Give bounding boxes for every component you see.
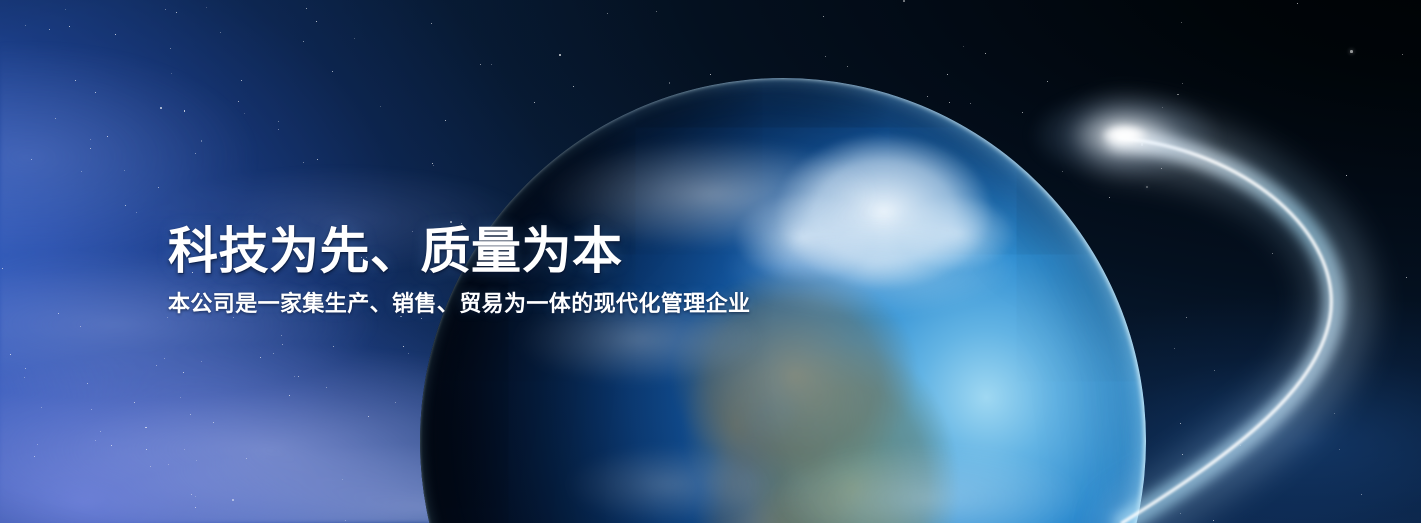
star [95, 440, 96, 441]
star [303, 162, 304, 163]
star [1161, 168, 1162, 169]
star [213, 422, 214, 423]
star [380, 106, 381, 107]
star [158, 187, 159, 188]
star [368, 416, 369, 417]
star [985, 53, 986, 54]
star [90, 139, 91, 140]
star [220, 32, 221, 33]
star [87, 383, 88, 384]
star [403, 346, 404, 347]
star [184, 110, 186, 112]
star [41, 407, 42, 408]
star [191, 494, 192, 495]
star [1180, 513, 1181, 514]
star [69, 26, 70, 27]
star [238, 101, 239, 102]
star [1361, 494, 1362, 495]
star [354, 38, 355, 39]
star [1339, 449, 1340, 450]
star [903, 0, 905, 2]
star [1213, 520, 1214, 521]
star [95, 92, 96, 93]
hero-subheadline: 本公司是一家集生产、销售、贸易为一体的现代化管理企业 [168, 291, 750, 317]
star [947, 74, 948, 75]
star [342, 479, 343, 480]
star [1406, 277, 1407, 278]
star [408, 353, 409, 354]
star [303, 41, 304, 42]
star [1182, 83, 1183, 84]
star [195, 496, 196, 497]
star [278, 121, 279, 122]
star [260, 357, 261, 358]
star [201, 361, 202, 362]
star [145, 427, 147, 429]
star [124, 170, 125, 171]
star [1272, 253, 1273, 254]
star [25, 25, 26, 26]
star [1297, 3, 1298, 4]
star [195, 153, 196, 154]
star [246, 458, 247, 459]
star [1240, 445, 1241, 446]
star [156, 365, 157, 366]
star [825, 56, 826, 57]
star [65, 9, 66, 10]
star [58, 313, 59, 314]
star [81, 171, 82, 172]
star [176, 12, 177, 13]
star [1181, 22, 1182, 23]
star [282, 344, 283, 345]
star [607, 13, 608, 14]
star [281, 335, 282, 336]
star [91, 409, 92, 410]
star [164, 358, 165, 359]
star [24, 377, 25, 378]
star [431, 23, 432, 24]
star [306, 8, 307, 9]
star [90, 148, 91, 149]
star [165, 9, 166, 10]
star [491, 64, 492, 65]
star [136, 212, 137, 213]
star [115, 34, 116, 35]
star [37, 444, 38, 445]
star [34, 456, 35, 457]
star [183, 372, 184, 373]
star [195, 507, 196, 508]
hero-banner: 科技为先、质量为本 本公司是一家集生产、销售、贸易为一体的现代化管理企业 [0, 0, 1421, 523]
star [241, 80, 242, 81]
star [150, 466, 151, 467]
star [326, 387, 327, 388]
star [1186, 317, 1187, 318]
star [201, 140, 203, 142]
star [289, 395, 290, 396]
hero-text-block: 科技为先、质量为本 本公司是一家集生产、销售、贸易为一体的现代化管理企业 [168, 224, 750, 317]
star [316, 21, 317, 22]
star [1402, 54, 1403, 55]
star [49, 29, 50, 30]
hero-headline: 科技为先、质量为本 [168, 224, 750, 278]
star [10, 354, 11, 355]
star [1334, 413, 1335, 414]
star [80, 326, 81, 327]
star [107, 136, 108, 137]
star [190, 414, 191, 415]
star [1174, 348, 1175, 349]
star [559, 54, 561, 56]
star [1214, 370, 1215, 371]
star [963, 46, 964, 47]
star [134, 402, 135, 403]
star [1162, 107, 1163, 108]
star [180, 397, 181, 398]
star [125, 205, 126, 206]
star [184, 449, 185, 450]
star [168, 464, 169, 465]
star [31, 159, 32, 160]
star [55, 118, 56, 119]
star [395, 402, 396, 403]
star [75, 80, 76, 81]
star [170, 48, 171, 49]
star [317, 159, 318, 160]
star [294, 376, 295, 377]
star [146, 449, 147, 450]
star [1350, 50, 1353, 53]
star [160, 107, 162, 109]
star [232, 499, 234, 501]
star [111, 445, 112, 446]
star [333, 346, 334, 347]
star [823, 16, 824, 17]
star [2, 268, 3, 269]
star [273, 353, 274, 354]
star [345, 520, 346, 521]
star [847, 66, 848, 67]
star [1346, 175, 1347, 176]
star [1146, 186, 1149, 189]
star [196, 460, 197, 461]
star [656, 11, 657, 12]
star [480, 64, 481, 65]
star [171, 73, 172, 74]
star [278, 129, 279, 130]
star [206, 7, 207, 8]
star [244, 113, 245, 114]
star [1180, 423, 1181, 424]
star [1182, 454, 1183, 455]
star [25, 368, 26, 369]
star [100, 431, 101, 432]
star [233, 317, 234, 318]
star [332, 71, 333, 72]
star [298, 376, 299, 377]
star [1177, 94, 1179, 96]
